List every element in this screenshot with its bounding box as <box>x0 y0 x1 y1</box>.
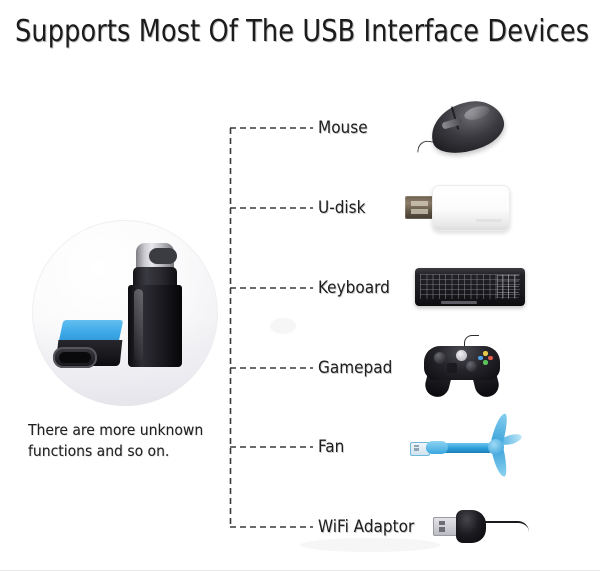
usb-c-otg-adapter-black <box>128 243 182 367</box>
adapter-top-face <box>59 320 124 342</box>
usb-flash-drive-icon <box>405 185 510 231</box>
device-label-fan: Fan <box>318 437 344 457</box>
usb-fan-icon <box>410 417 522 477</box>
usb-c-port-inner <box>59 352 91 363</box>
caption-line-1: There are more unknown <box>28 420 228 441</box>
gamepad-stick-left <box>434 352 446 364</box>
texture-blotch <box>270 318 296 334</box>
usb-a-connector <box>405 196 435 219</box>
texture-blotch <box>300 538 440 552</box>
device-label-udisk: U-disk <box>318 198 366 218</box>
device-label-keyboard: Keyboard <box>318 278 390 298</box>
adapter-gloss <box>134 289 143 361</box>
page-title: Supports Most Of The USB Interface Devic… <box>15 14 585 49</box>
gamepad-face-buttons <box>478 351 492 364</box>
flash-drive-shell <box>432 185 510 231</box>
wifi-dongle-body <box>456 510 486 543</box>
usb-c-plug-inner <box>149 248 177 264</box>
usb-compatibility-infographic: Supports Most Of The USB Interface Devic… <box>0 0 600 571</box>
product-caption: There are more unknown functions and so … <box>28 420 228 462</box>
keyboard-numpad <box>497 275 519 298</box>
keyboard-spacebar <box>441 301 477 305</box>
keyboard-icon <box>415 268 525 308</box>
usb-c-otg-adapter-blue <box>47 320 129 380</box>
gamepad-stick-right <box>466 361 477 372</box>
gamepad-guide-button <box>456 350 467 361</box>
device-label-wifi-adaptor: WiFi Adaptor <box>318 517 414 537</box>
device-label-gamepad: Gamepad <box>318 358 392 378</box>
caption-line-2: functions and so on. <box>28 441 228 462</box>
mouse-icon <box>418 97 510 159</box>
gamepad-dpad <box>447 363 457 373</box>
product-photo-circle <box>32 220 218 406</box>
gamepad-icon <box>418 335 506 401</box>
wifi-dongle-icon <box>433 510 529 544</box>
device-label-mouse: Mouse <box>318 118 368 138</box>
keyboard-chassis <box>415 268 525 306</box>
wifi-cable <box>483 521 529 532</box>
fan-hub <box>488 439 504 455</box>
fan-neck-base <box>426 441 448 454</box>
